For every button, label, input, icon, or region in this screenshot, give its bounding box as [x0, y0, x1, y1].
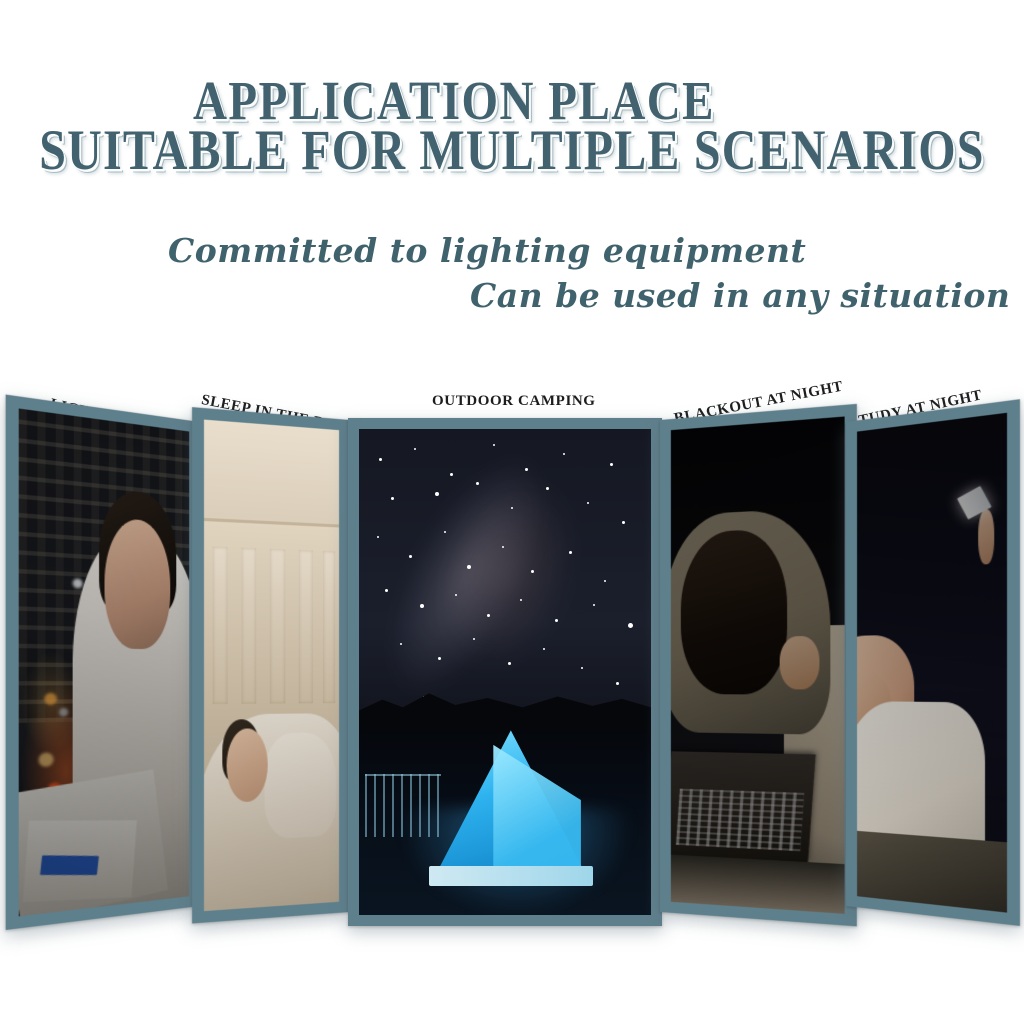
panel-frame [348, 418, 662, 926]
subheading-line-2: Can be used in any situation [0, 273, 1024, 318]
panel-photo-study-night [857, 413, 1007, 913]
subheading-line-1: Committed to lighting equipment [0, 228, 1024, 273]
panel-photo-blackout-desk [671, 416, 845, 913]
panel-photo-sleeping-bed [204, 420, 339, 912]
panel-frame [846, 399, 1020, 926]
headline-block: APPLICATION PLACE SUITABLE FOR MULTIPLE … [0, 72, 1024, 172]
scenario-panel-blackout-at-night[interactable] [660, 404, 857, 927]
panel-frame [660, 404, 857, 927]
handheld-light-icon [957, 486, 992, 520]
scenario-panel-fan [0, 400, 1024, 960]
subheading-block: Committed to lighting equipment Can be u… [0, 228, 1024, 318]
scenario-panel-study-at-night[interactable] [846, 399, 1020, 926]
panel-frame [6, 395, 200, 931]
scenario-panel-light-is-bright[interactable] [6, 395, 200, 931]
headline-line-2: SUITABLE FOR MULTIPLE SCENARIOS [0, 122, 1024, 181]
panel-photo-office-night [19, 408, 189, 916]
scenario-panel-outdoor-camping[interactable] [348, 418, 662, 926]
panel-photo-camping-tent [359, 429, 651, 915]
scenario-panel-sleep-in-the-dark[interactable] [192, 407, 350, 923]
panel-frame [192, 407, 350, 923]
